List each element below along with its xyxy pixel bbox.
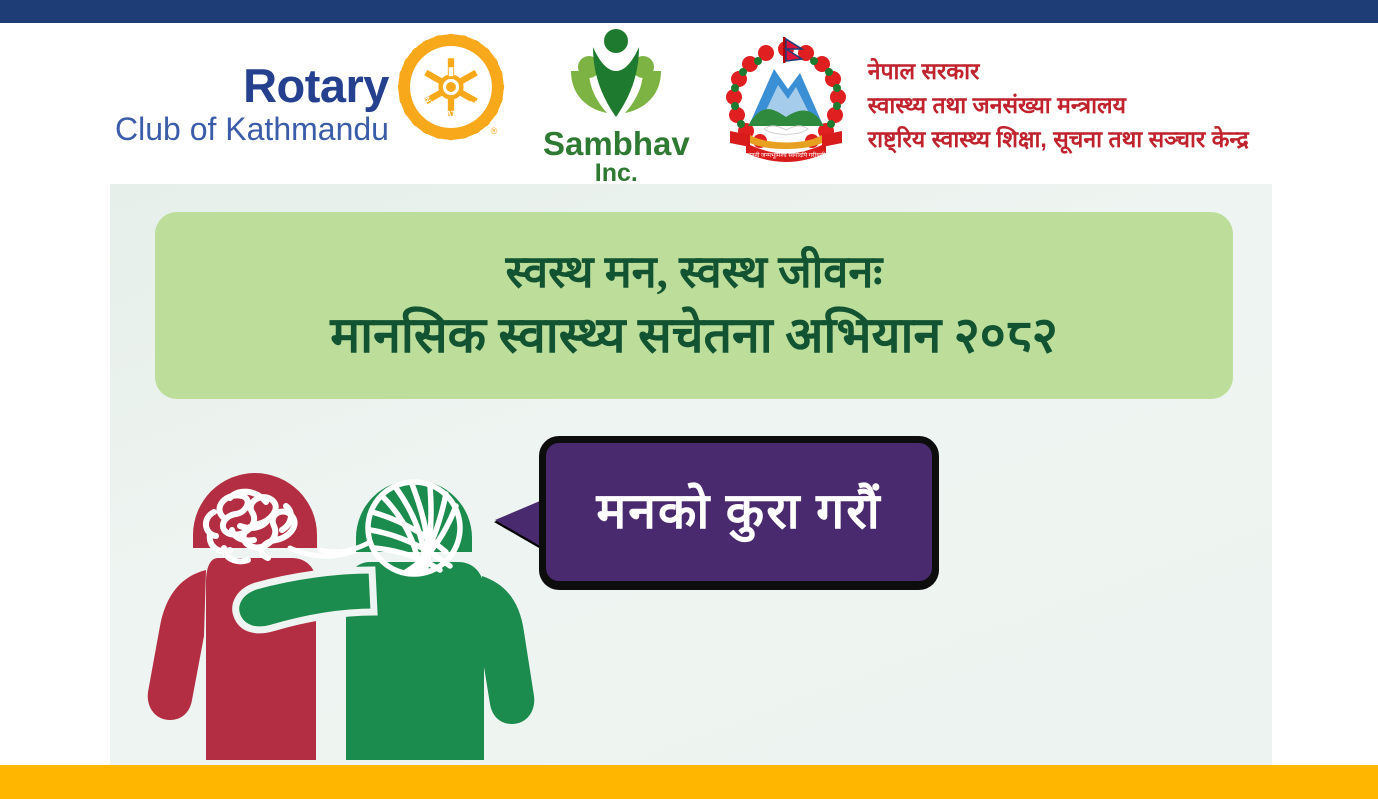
sambhav-name: Sambhav <box>543 127 690 160</box>
campaign-poster: स्वस्थ मन, स्वस्थ जीवनः मानसिक स्वास्थ्य… <box>110 184 1272 765</box>
poster-title-line-1: स्वस्थ मन, स्वस्थ जीवनः <box>506 248 883 298</box>
registered-mark: ® <box>491 126 498 136</box>
center-name: राष्ट्रिय स्वास्थ्य शिक्षा, सूचना तथा सञ… <box>868 122 1249 154</box>
rotary-wordmark: Rotary Club of Kathmandu <box>115 62 389 145</box>
two-figures-illustration <box>120 430 550 765</box>
rotary-club-logo: Rotary Club of Kathmandu <box>115 61 505 146</box>
rotary-name: Rotary <box>243 62 389 109</box>
bottom-accent-bar <box>0 765 1378 799</box>
speech-bubble-text: मनको कुरा गरौं <box>596 475 881 543</box>
header-logo-strip: Rotary Club of Kathmandu <box>0 23 1378 184</box>
nepal-government-logo: जननी जन्मभूमिश्च स्वर्गादपि गरीयसी नेपाल… <box>716 31 1249 176</box>
rotary-club-name: Club of Kathmandu <box>115 113 389 145</box>
sambhav-logo: Sambhav Inc. <box>543 25 690 186</box>
sambhav-figures-icon <box>563 25 669 125</box>
ministry-name: स्वास्थ्य तथा जनसंख्या मन्त्रालय <box>868 88 1249 120</box>
nepal-emblem-icon: जननी जन्मभूमिश्च स्वर्गादपि गरीयसी <box>716 31 856 176</box>
top-accent-bar <box>0 0 1378 23</box>
sambhav-suffix: Inc. <box>595 160 638 186</box>
speech-bubble-body: मनको कुरा गरौं <box>539 436 939 588</box>
logo-row: Rotary Club of Kathmandu <box>110 23 1310 184</box>
poster-title-line-2: मानसिक स्वास्थ्य सचेतना अभियान २०८२ <box>330 308 1057 363</box>
government-text-block: नेपाल सरकार स्वास्थ्य तथा जनसंख्या मन्त्… <box>868 54 1249 154</box>
poster-title-banner: स्वस्थ मन, स्वस्थ जीवनः मानसिक स्वास्थ्य… <box>155 212 1233 399</box>
emblem-motto: जननी जन्मभूमिश्च स्वर्गादपि गरीयसी <box>746 151 825 159</box>
rotary-wheel-icon: ROTARY INTERNATIONAL ® <box>397 33 505 146</box>
government-name: नेपाल सरकार <box>868 54 1249 86</box>
speech-bubble: मनको कुरा गरौं <box>495 436 947 596</box>
